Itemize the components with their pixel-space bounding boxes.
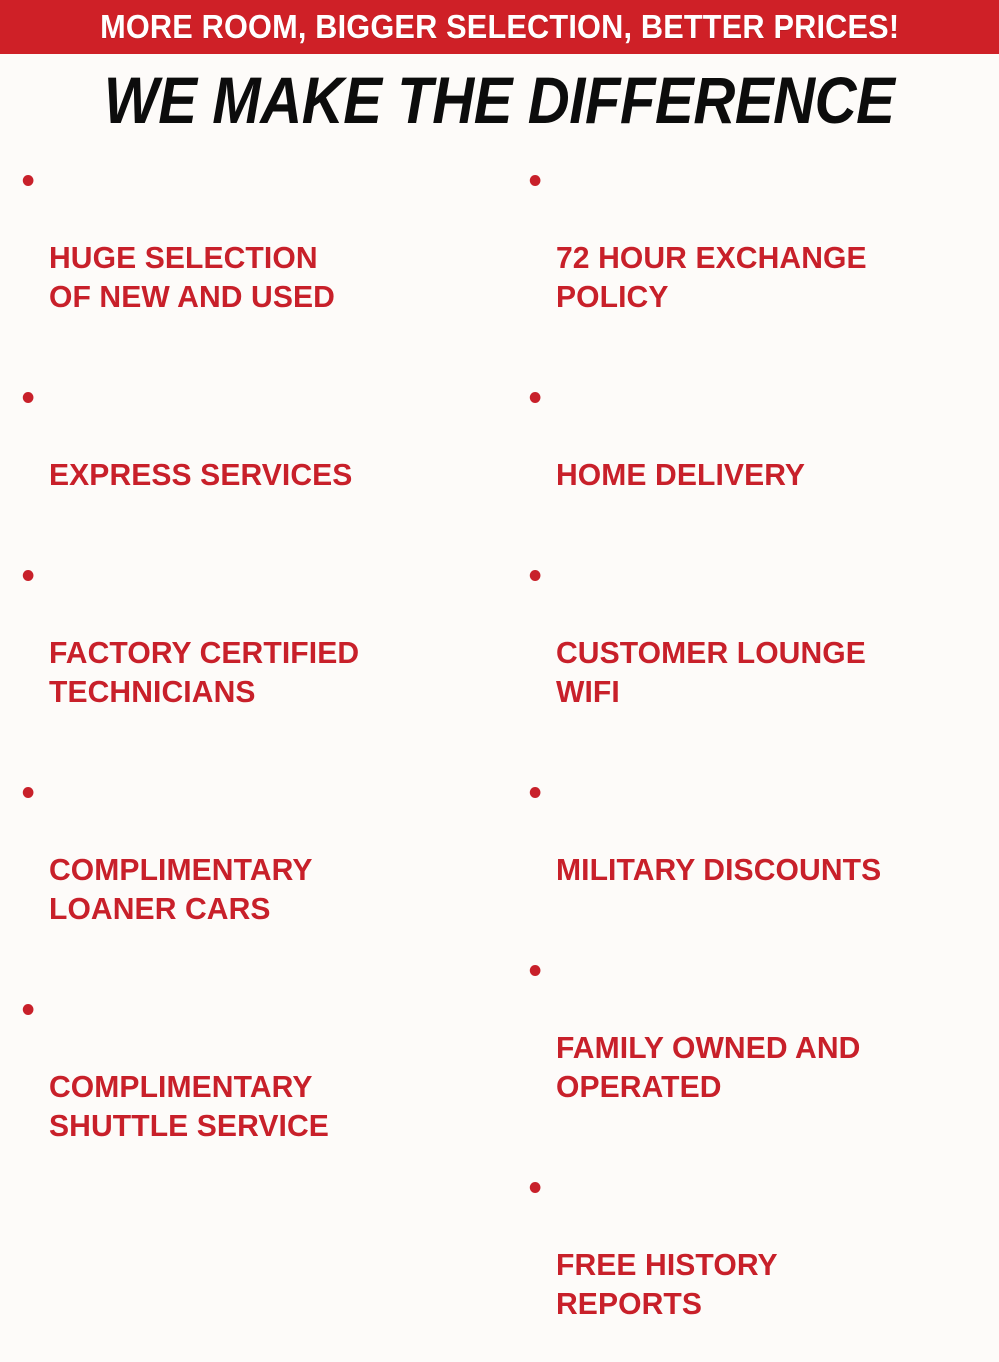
bullet-icon [530,392,541,403]
list-item: HOME DELIVERY [523,377,985,533]
list-item: FREE HISTORY REPORTS [523,1167,985,1362]
list-item: CUSTOMER LOUNGE WIFI [523,555,985,750]
list-item-label: HOME DELIVERY [556,455,985,494]
list-item-label: COMPLIMENTARY SHUTTLE SERVICE [49,1067,490,1145]
top-banner: MORE ROOM, BIGGER SELECTION, BETTER PRIC… [0,0,999,54]
benefits-columns: HUGE SELECTION OF NEW AND USED EXPRESS S… [0,160,999,692]
list-item: MILITARY DISCOUNTS [523,772,985,928]
bullet-icon [530,787,541,798]
list-item: HUGE SELECTION OF NEW AND USED [16,160,490,355]
bullet-icon [23,175,34,186]
bullet-icon [23,787,34,798]
bullet-icon [530,175,541,186]
page-title: WE MAKE THE DIFFERENCE [104,66,895,134]
advertisement-root: MORE ROOM, BIGGER SELECTION, BETTER PRIC… [0,0,999,692]
headline-container: WE MAKE THE DIFFERENCE [0,62,999,138]
list-item: 72 HOUR EXCHANGE POLICY [523,160,985,355]
list-item-label: CUSTOMER LOUNGE WIFI [556,633,985,711]
list-item-label: 72 HOUR EXCHANGE POLICY [556,238,985,316]
benefits-column-right: 72 HOUR EXCHANGE POLICY HOME DELIVERY CU… [505,160,999,692]
list-item: FAMILY OWNED AND OPERATED [523,950,985,1145]
list-item-label: FACTORY CERTIFIED TECHNICIANS [49,633,490,711]
list-item-label: FAMILY OWNED AND OPERATED [556,1028,985,1106]
benefit-list-left: HUGE SELECTION OF NEW AND USED EXPRESS S… [16,160,505,1184]
bullet-icon [530,1182,541,1193]
list-item: EXPRESS SERVICES [16,377,490,533]
list-item-label: EXPRESS SERVICES [49,455,490,494]
list-item-label: MILITARY DISCOUNTS [556,850,985,889]
benefits-column-left: HUGE SELECTION OF NEW AND USED EXPRESS S… [0,160,505,692]
bullet-icon [23,1004,34,1015]
bullet-icon [23,392,34,403]
list-item-label: HUGE SELECTION OF NEW AND USED [49,238,490,316]
list-item: COMPLIMENTARY SHUTTLE SERVICE [16,989,490,1184]
bullet-icon [23,570,34,581]
list-item-label: FREE HISTORY REPORTS [556,1245,985,1323]
bullet-icon [530,965,541,976]
top-banner-text: MORE ROOM, BIGGER SELECTION, BETTER PRIC… [100,10,899,44]
list-item-label: COMPLIMENTARY LOANER CARS [49,850,490,928]
list-item: COMPLIMENTARY LOANER CARS [16,772,490,967]
benefit-list-right: 72 HOUR EXCHANGE POLICY HOME DELIVERY CU… [523,160,999,1362]
bullet-icon [530,570,541,581]
list-item: FACTORY CERTIFIED TECHNICIANS [16,555,490,750]
